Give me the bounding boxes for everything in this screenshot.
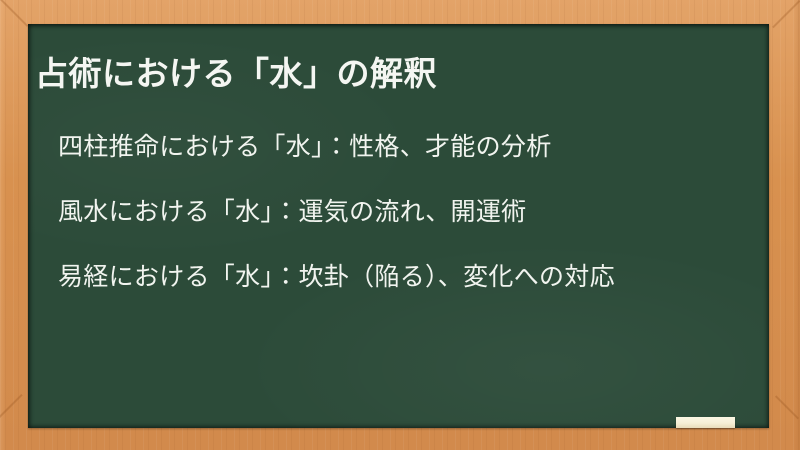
frame-left-edge-highlight (0, 0, 6, 450)
chalkboard-content: 占術における「水」の解釈 四柱推命における「水」：性格、才能の分析 風水における… (28, 24, 769, 428)
bullet-list: 四柱推命における「水」：性格、才能の分析 風水における「水」：運気の流れ、開運術… (58, 102, 748, 297)
slide-title: 占術における「水」の解釈 (35, 52, 755, 96)
bullet-item-2: 風水における「水」：運気の流れ、開運術 (58, 192, 748, 232)
bullet-item-1: 四柱推命における「水」：性格、才能の分析 (58, 127, 748, 167)
bullet-item-3: 易経における「水」：坎卦（陥る）、変化への対応 (58, 257, 748, 297)
chalkboard-slide: 占術における「水」の解釈 四柱推命における「水」：性格、才能の分析 風水における… (0, 0, 800, 450)
frame-right-edge-shadow (793, 0, 800, 450)
chalk-stick-icon (676, 417, 735, 428)
chalkboard-surface: 占術における「水」の解釈 四柱推命における「水」：性格、才能の分析 風水における… (28, 24, 769, 428)
